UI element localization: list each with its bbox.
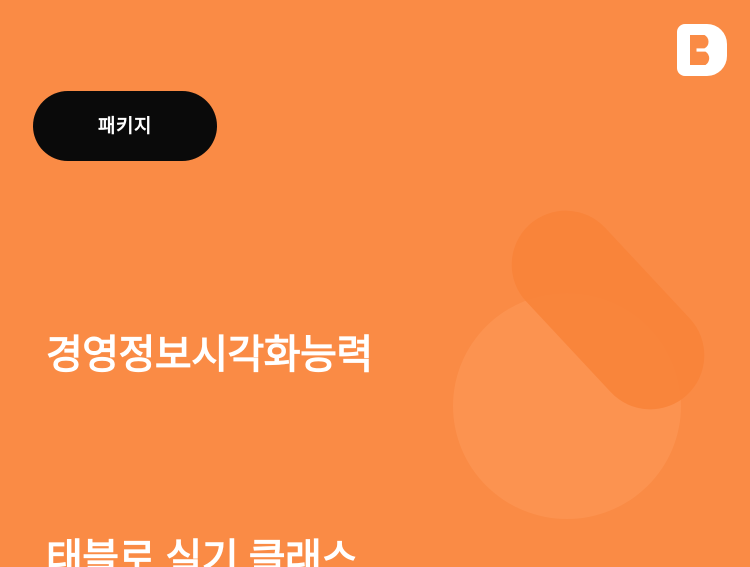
page-title-line-1: 경영정보시각화능력 <box>46 321 373 389</box>
decorative-circle <box>453 293 681 519</box>
brand-logo-b-icon <box>677 24 727 76</box>
thumbnail-canvas: 패키지 경영정보시각화능력 태블로 실기 클래스 <box>0 0 750 567</box>
page-title: 경영정보시각화능력 태블로 실기 클래스 <box>46 185 373 567</box>
category-badge-label: 패키지 <box>98 117 152 136</box>
category-badge: 패키지 <box>33 91 217 161</box>
decorative-pill <box>489 188 726 431</box>
page-title-line-2: 태블로 실기 클래스 <box>46 525 373 567</box>
